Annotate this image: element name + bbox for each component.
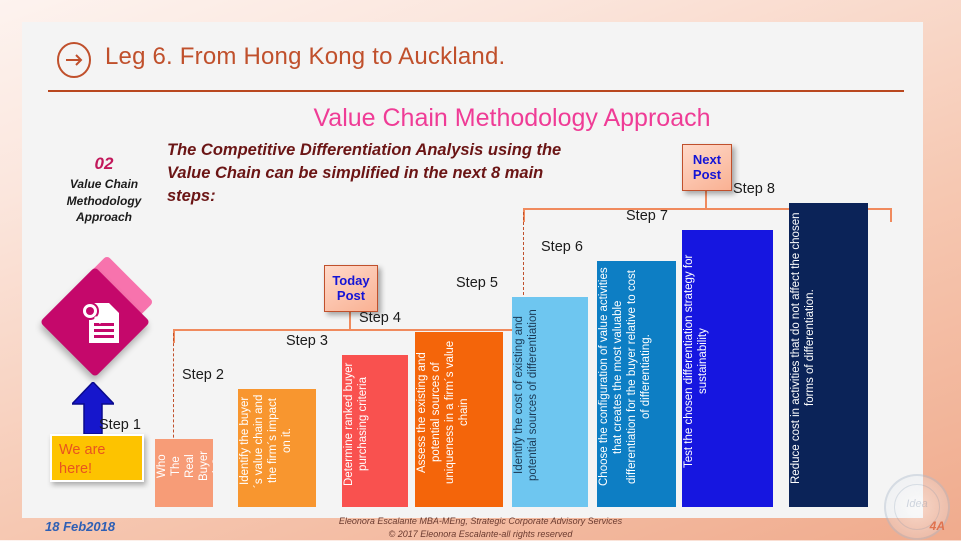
watermark-text: Idea bbox=[886, 498, 948, 510]
bar-step-7-label: Step 7 bbox=[626, 208, 668, 224]
bar-step-1-text: Who The Real Buyer is? bbox=[155, 443, 213, 497]
bar-step-6[interactable]: Choose the configuration of value activi… bbox=[597, 261, 676, 507]
bar-step-8-label: Step 8 bbox=[733, 181, 775, 197]
bar-step-3-text: Determine ranked buyer purchasing criter… bbox=[342, 359, 408, 497]
bar-step-5-text: Identify the cost of existing and potent… bbox=[512, 301, 588, 497]
bar-step-3[interactable]: Determine ranked buyer purchasing criter… bbox=[342, 355, 408, 507]
bar-step-4[interactable]: Assess the existing and potential source… bbox=[415, 332, 503, 507]
bar-step-5-label: Step 5 bbox=[456, 275, 498, 291]
bar-step-6-text: Choose the configuration of value activi… bbox=[597, 265, 676, 497]
footer-credit-line1: Eleonora Escalante MBA-MEng, Strategic C… bbox=[0, 515, 961, 528]
footer-page-number: 4A bbox=[930, 519, 945, 533]
bar-step-2-label: Step 2 bbox=[182, 367, 224, 383]
bar-step-4-label: Step 4 bbox=[359, 310, 401, 326]
step-bar-chart: Who The Real Buyer is?Step 1Identify the… bbox=[22, 22, 923, 518]
bar-step-5[interactable]: Identify the cost of existing and potent… bbox=[512, 297, 588, 507]
bar-step-2-text: Identify the buyer´s value chain and the… bbox=[238, 393, 316, 497]
bar-step-3-label: Step 3 bbox=[286, 333, 328, 349]
bar-step-8[interactable]: Reduce cost in activities that do not af… bbox=[789, 203, 868, 507]
bar-step-1-label: Step 1 bbox=[99, 417, 141, 433]
bar-step-7[interactable]: Test the chosen differentiation strategy… bbox=[682, 230, 773, 507]
bar-step-1[interactable]: Who The Real Buyer is? bbox=[155, 439, 213, 507]
bar-step-8-text: Reduce cost in activities that do not af… bbox=[789, 207, 868, 497]
bar-step-4-text: Assess the existing and potential source… bbox=[415, 336, 503, 497]
bar-step-6-label: Step 6 bbox=[541, 239, 583, 255]
footer-credit-line2: © 2017 Eleonora Escalante-all rights res… bbox=[0, 528, 961, 541]
bar-step-2[interactable]: Identify the buyer´s value chain and the… bbox=[238, 389, 316, 507]
bar-step-7-text: Test the chosen differentiation strategy… bbox=[682, 234, 773, 497]
slide-panel: Leg 6. From Hong Kong to Auckland. Value… bbox=[22, 22, 923, 518]
footer-credit: Eleonora Escalante MBA-MEng, Strategic C… bbox=[0, 515, 961, 541]
